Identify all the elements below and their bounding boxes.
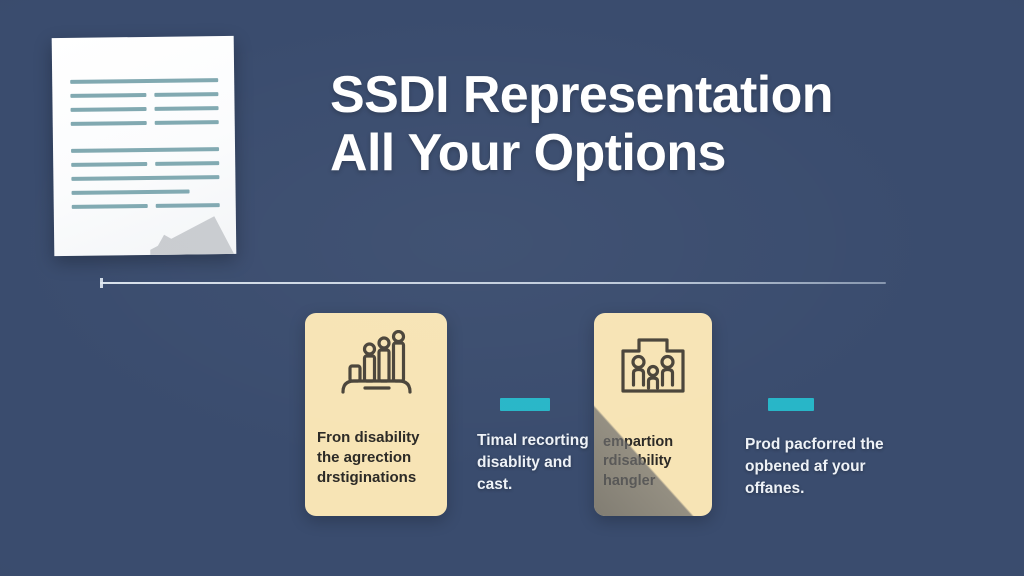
card-1-line-3: drstiginations <box>317 468 435 488</box>
page-title: SSDI Representation All Your Options <box>330 66 970 182</box>
card-1-line-1: Fron disability <box>317 428 435 448</box>
family-building-icon <box>594 333 712 397</box>
col-3-line-3: offanes. <box>745 478 925 500</box>
col-2-line-2: disablity and <box>477 452 652 474</box>
col-3-line-1: Prod pacforred the <box>745 434 925 456</box>
divider <box>100 282 886 284</box>
title-line-2: All Your Options <box>330 124 970 182</box>
title-line-1: SSDI Representation <box>330 66 970 124</box>
text-column-2: Timal recorting disablity and cast. <box>477 430 652 496</box>
accent-bar-2 <box>500 398 550 411</box>
document-folded-corner-icon <box>149 178 236 256</box>
info-card-1[interactable]: Fron disability the agrection drstiginat… <box>305 313 447 516</box>
document-page-icon <box>52 36 237 256</box>
slide-canvas: SSDI Representation All Your Options Fro… <box>0 0 1024 576</box>
info-card-1-text: Fron disability the agrection drstiginat… <box>305 428 447 488</box>
accent-bar-3 <box>768 398 814 411</box>
card-1-line-2: the agrection <box>317 448 435 468</box>
col-2-line-1: Timal recorting <box>477 430 652 452</box>
col-2-line-3: cast. <box>477 474 652 496</box>
people-growth-chart-icon <box>305 330 447 396</box>
col-3-line-2: opbened af your <box>745 456 925 478</box>
document-illustration <box>53 37 235 255</box>
text-column-3: Prod pacforred the opbened af your offan… <box>745 434 925 500</box>
